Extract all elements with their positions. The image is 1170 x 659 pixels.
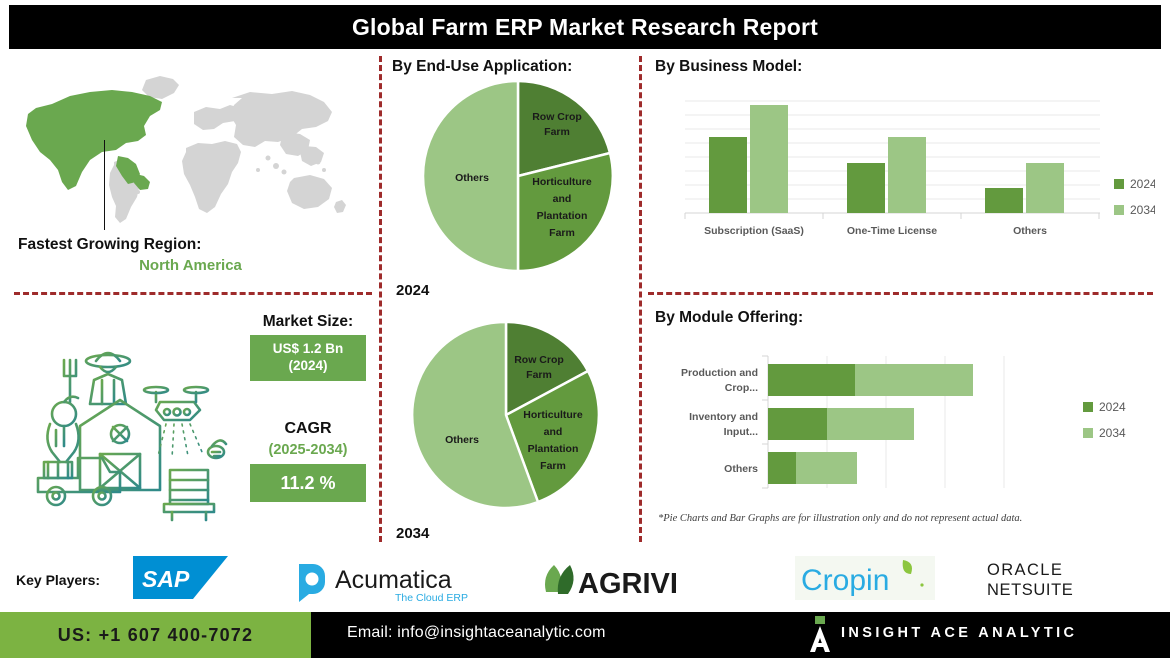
- cat-label-production-1: Production and: [681, 367, 758, 379]
- pie-2024-svg: Row Crop Farm Horticulture and Plantatio…: [420, 78, 620, 274]
- netsuite-wordmark: NETSUITE: [987, 581, 1073, 599]
- legend-label-2034: 2034: [1130, 203, 1155, 217]
- cagr-value: 11.2 %: [280, 472, 335, 495]
- page-title: Global Farm ERP Market Research Report: [352, 14, 818, 41]
- pie-2024-label-hort-1: Horticulture: [532, 176, 592, 188]
- cat-label-others: Others: [724, 463, 758, 475]
- divider-vertical-left: [379, 56, 382, 542]
- oracle-wordmark: ORACLE: [987, 561, 1063, 579]
- footer-brand-name: INSIGHT ACE ANALYTIC: [841, 625, 1077, 641]
- pie-2034-label-hort-2: and: [544, 426, 563, 438]
- module-offering-chart: Production and Crop... Inventory and Inp…: [655, 350, 1155, 505]
- insightace-logo-icon: [806, 616, 834, 654]
- divider-horizontal-right: [648, 292, 1153, 295]
- legend-label-2024: 2024: [1130, 177, 1155, 191]
- pie-2034-svg: Row Crop Farm Horticulture and Plantatio…: [406, 318, 611, 518]
- cagr-value-box: 11.2 %: [250, 464, 366, 502]
- bar-inventory-2034: [827, 408, 914, 440]
- acumatica-tagline: The Cloud ERP: [395, 592, 468, 603]
- agrivi-logo-svg: AGRIVI: [540, 562, 745, 598]
- cat-label-inventory-1: Inventory and: [689, 411, 758, 423]
- business-model-chart: Subscription (SaaS) One-Time License Oth…: [655, 88, 1155, 248]
- market-size-value-box: US$ 1.2 Bn (2024): [250, 335, 366, 381]
- business-model-svg: Subscription (SaaS) One-Time License Oth…: [655, 88, 1155, 248]
- module-offering-section-title: By Module Offering:: [655, 309, 803, 327]
- cat-label-onetime: One-Time License: [847, 225, 937, 237]
- legend-label-2034: 2034: [1099, 426, 1126, 440]
- infographic-page: Global Farm ERP Market Research Report: [0, 0, 1170, 658]
- logo-sap: SAP: [133, 556, 228, 599]
- bar-others-2034: [796, 452, 857, 484]
- cropin-wordmark: Cropin: [801, 564, 889, 597]
- module-offering-svg: Production and Crop... Inventory and Inp…: [655, 350, 1155, 505]
- logo-acumatica: Acumatica The Cloud ERP: [295, 558, 510, 603]
- legend-swatch-2024: [1114, 179, 1124, 189]
- chart-disclaimer: *Pie Charts and Bar Graphs are for illus…: [658, 513, 1128, 524]
- pie-2034-label-others: Others: [445, 434, 479, 446]
- farm-illustration-svg: [20, 330, 245, 525]
- pie-2034-label-hort-3: Plantation: [528, 443, 579, 455]
- pie-2034-year: 2034: [396, 525, 429, 542]
- divider-horizontal-left: [14, 292, 372, 295]
- cat-label-production-2: Crop...: [725, 382, 758, 394]
- footer-dark-bar: Email: info@insightaceanalytic.com INSIG…: [311, 612, 1170, 658]
- page-header: Global Farm ERP Market Research Report: [9, 5, 1161, 49]
- cropin-logo-svg: Cropin: [795, 556, 935, 600]
- key-players-label: Key Players:: [16, 572, 100, 588]
- divider-vertical-right: [639, 56, 642, 542]
- legend-swatch-2034: [1114, 205, 1124, 215]
- end-use-section-title: By End-Use Application:: [392, 58, 572, 76]
- bar-production-2024: [768, 364, 855, 396]
- pie-2034-label-hort-1: Horticulture: [523, 409, 583, 421]
- bar-subscription-2024: [709, 137, 747, 213]
- page-footer: US: +1 607 400-7072 Email: info@insighta…: [0, 612, 1170, 658]
- bar-inventory-2024: [768, 408, 827, 440]
- pie-chart-2034: Row Crop Farm Horticulture and Plantatio…: [406, 318, 611, 518]
- legend-swatch-2024: [1083, 402, 1093, 412]
- agrivi-wordmark: AGRIVI: [578, 568, 678, 598]
- sap-wordmark: SAP: [142, 566, 190, 592]
- bar-others-2024: [768, 452, 796, 484]
- map-pointer-line: [104, 140, 105, 230]
- market-size-label: Market Size:: [248, 313, 368, 331]
- insightace-mark-svg: [806, 616, 834, 654]
- footer-phone: US: +1 607 400-7072: [0, 612, 311, 658]
- logo-cropin: Cropin: [795, 556, 935, 600]
- pie-2024-label-row-crop-2: Farm: [544, 126, 570, 138]
- cagr-label: CAGR: [248, 420, 368, 438]
- north-america-highlight: [26, 90, 162, 190]
- acumatica-wordmark: Acumatica: [335, 566, 452, 594]
- legend-label-2024: 2024: [1099, 400, 1126, 414]
- bar-onetime-2034: [888, 137, 926, 213]
- acumatica-logo-svg: Acumatica The Cloud ERP: [295, 558, 510, 603]
- cagr-period: (2025-2034): [243, 442, 373, 458]
- farm-illustration: [20, 330, 245, 525]
- bar-others-2034: [1026, 163, 1064, 213]
- world-map: [18, 62, 363, 227]
- market-size-value: US$ 1.2 Bn: [273, 341, 344, 356]
- pie-2024-label-hort-4: Farm: [549, 227, 575, 239]
- pie-chart-2024: Row Crop Farm Horticulture and Plantatio…: [420, 78, 620, 274]
- fastest-region-name: North America: [18, 257, 363, 274]
- pie-2034-label-hort-4: Farm: [540, 460, 566, 472]
- legend-swatch-2034: [1083, 428, 1093, 438]
- pie-2024-label-hort-3: Plantation: [537, 210, 588, 222]
- sap-logo-svg: SAP: [133, 556, 228, 599]
- pie-2024-label-hort-2: and: [553, 193, 572, 205]
- pie-2024-label-others: Others: [455, 172, 489, 184]
- business-model-section-title: By Business Model:: [655, 58, 802, 76]
- bar-production-2034: [855, 364, 973, 396]
- netsuite-logo-svg: ORACLE NETSUITE: [965, 558, 1130, 600]
- bar-onetime-2024: [847, 163, 885, 213]
- pie-2024-year: 2024: [396, 282, 429, 299]
- pie-2024-label-row-crop-1: Row Crop: [532, 111, 582, 123]
- bar-subscription-2034: [750, 105, 788, 213]
- market-size-year: (2024): [288, 358, 327, 373]
- fastest-region-caption: Fastest Growing Region:: [18, 236, 363, 254]
- bar-others-2024: [985, 188, 1023, 213]
- logo-oracle-netsuite: ORACLE NETSUITE: [965, 558, 1130, 600]
- cat-label-inventory-2: Input...: [724, 426, 758, 438]
- footer-email: Email: info@insightaceanalytic.com: [347, 624, 606, 642]
- world-map-svg: [18, 62, 363, 227]
- cat-label-subscription: Subscription (SaaS): [704, 225, 804, 237]
- pie-2034-label-row-crop-2: Farm: [526, 369, 552, 381]
- cat-label-others: Others: [1013, 225, 1047, 237]
- pie-2034-label-row-crop-1: Row Crop: [514, 354, 564, 366]
- logo-agrivi: AGRIVI: [540, 562, 745, 598]
